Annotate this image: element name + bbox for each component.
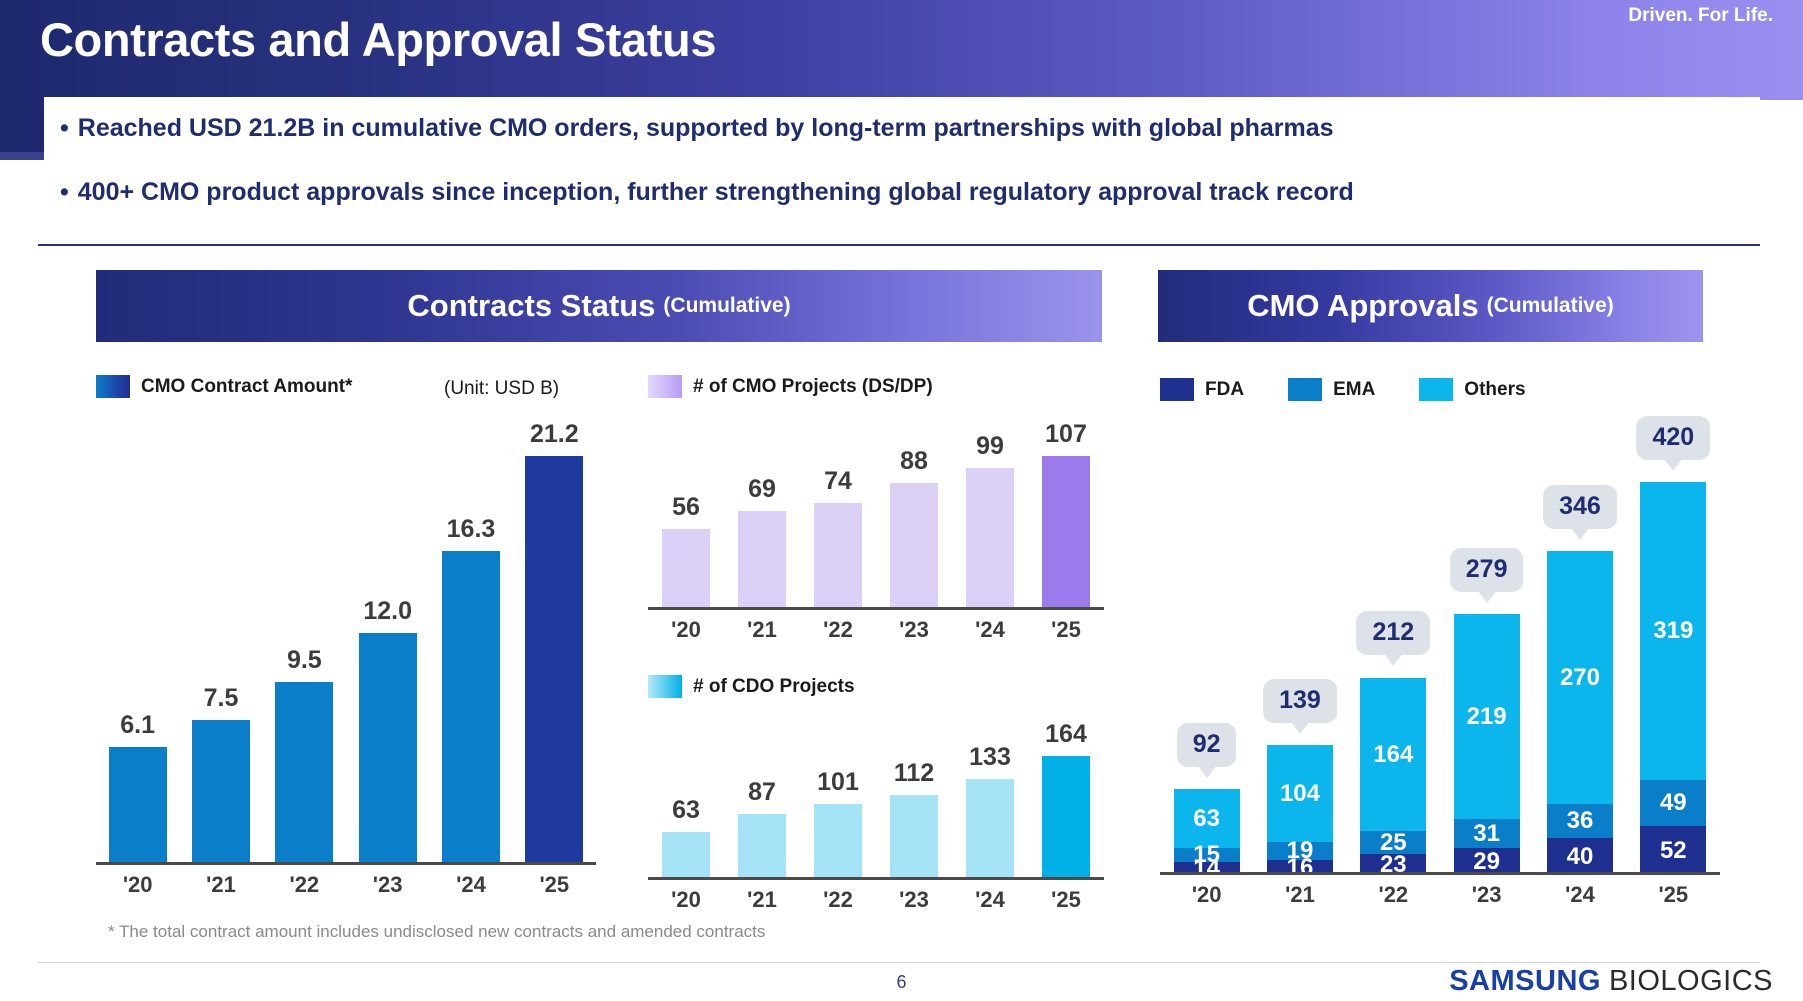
x-tick-label: '24	[1533, 882, 1626, 908]
bar-value-label: 87	[748, 778, 776, 807]
brand-tagline: Driven. For Life.	[1628, 5, 1773, 27]
stack-segment-others: 104	[1267, 745, 1333, 842]
legend-label-fda: FDA	[1205, 379, 1244, 401]
stacked-bar: 2193129279	[1454, 614, 1520, 875]
x-tick-label: '22	[263, 872, 346, 898]
bar-value-label: 164	[1045, 720, 1087, 749]
bar-group: 6.17.59.512.016.321.2	[96, 420, 596, 865]
bar-slot: 164	[1028, 720, 1104, 880]
section-divider	[38, 244, 1760, 246]
bar-slot: 1041916139	[1253, 745, 1346, 875]
unit-label: (Unit: USD B)	[444, 378, 559, 400]
x-tick-label: '22	[800, 617, 876, 643]
bar-group: 6387101112133164	[648, 720, 1104, 880]
stacked-bar: 1041916139	[1267, 745, 1333, 875]
x-tick-label: '21	[1253, 882, 1346, 908]
x-tick-label: '20	[1160, 882, 1253, 908]
stack-segment-value: 40	[1567, 843, 1594, 871]
legend-swatch-ema-icon	[1288, 378, 1322, 401]
bar-group: 5669748899107	[648, 420, 1104, 610]
company-logo: SAMSUNGBIOLOGICS	[1449, 965, 1773, 998]
legend-item-others: Others	[1419, 378, 1525, 401]
stack-segment-value: 49	[1660, 789, 1687, 817]
legend-cmo-projects: # of CMO Projects (DS/DP)	[648, 375, 933, 398]
chart-cmo-projects: 5669748899107 '20'21'22'23'24'25	[648, 410, 1104, 610]
bar-slot: 56	[648, 493, 724, 610]
total-callout: 212	[1356, 611, 1430, 655]
x-axis-labels: '20'21'22'23'24'25	[648, 617, 1104, 643]
header-left-accent	[0, 0, 44, 152]
stack-segment-ema: 36	[1547, 804, 1613, 838]
total-callout: 346	[1543, 485, 1617, 529]
x-axis-line	[648, 607, 1104, 610]
bar-value-label: 74	[824, 467, 852, 496]
bar	[814, 804, 862, 880]
stack-segment-value: 219	[1467, 703, 1507, 731]
stack-segment-value: 319	[1653, 617, 1693, 645]
bar-value-label: 56	[672, 493, 700, 522]
bar	[662, 832, 710, 880]
stack-segment-value: 52	[1660, 837, 1687, 865]
total-callout: 139	[1263, 679, 1337, 723]
bar-value-label: 16.3	[447, 515, 496, 544]
stack-segment-others: 164	[1360, 678, 1426, 831]
x-tick-label: '25	[513, 872, 596, 898]
legend-swatch-cmo-amount-icon	[96, 375, 130, 398]
legend-cdo-projects: # of CDO Projects	[648, 675, 855, 698]
stack-segment-others: 270	[1547, 551, 1613, 804]
x-tick-label: '23	[1440, 882, 1533, 908]
bar	[890, 483, 938, 610]
stacked-bar: 2703640346	[1547, 551, 1613, 875]
x-tick-label: '23	[876, 887, 952, 913]
legend-swatch-cdo-projects-icon	[648, 675, 682, 698]
page-title: Contracts and Approval Status	[40, 12, 716, 67]
legend-swatch-others-icon	[1419, 378, 1453, 401]
bar-slot: 107	[1028, 420, 1104, 610]
x-tick-label: '25	[1028, 887, 1104, 913]
stack-segment-value: 36	[1567, 807, 1594, 835]
legend-label-others: Others	[1464, 379, 1525, 401]
plot-area: 6387101112133164	[648, 710, 1104, 880]
x-tick-label: '24	[952, 887, 1028, 913]
legend-label-cmo-amount: CMO Contract Amount*	[141, 376, 352, 398]
stack-segment-value: 31	[1473, 820, 1500, 848]
stack-segment-value: 270	[1560, 664, 1600, 692]
legend-label-ema: EMA	[1333, 379, 1375, 401]
plot-area: 6.17.59.512.016.321.2	[96, 410, 596, 865]
x-tick-label: '25	[1627, 882, 1720, 908]
bar	[662, 529, 710, 610]
x-tick-label: '20	[96, 872, 179, 898]
cmo-approvals-banner: CMO Approvals (Cumulative)	[1158, 270, 1703, 342]
bar-value-label: 107	[1045, 420, 1087, 449]
legend-label-cmo-projects: # of CMO Projects (DS/DP)	[693, 376, 933, 398]
legend-swatch-fda-icon	[1160, 378, 1194, 401]
bullet-text: Reached USD 21.2B in cumulative CMO orde…	[78, 115, 1334, 143]
total-callout: 420	[1636, 416, 1710, 460]
bar	[109, 747, 167, 865]
bar-value-label: 101	[817, 768, 859, 797]
legend-item-fda: FDA	[1160, 378, 1244, 401]
contracts-status-title: Contracts Status	[407, 288, 655, 324]
stack-segment-fda: 40	[1547, 838, 1613, 875]
footnote: * The total contract amount includes und…	[108, 922, 765, 942]
bar-slot: 1642523212	[1347, 677, 1440, 875]
plot-area: 5669748899107	[648, 410, 1104, 610]
x-tick-label: '23	[876, 617, 952, 643]
x-axis-labels: '20'21'22'23'24'25	[648, 887, 1104, 913]
x-tick-label: '22	[1347, 882, 1440, 908]
bar-value-label: 112	[894, 759, 934, 788]
stack-segment-value: 14	[1193, 855, 1220, 883]
bar	[738, 511, 786, 610]
bullet-item: • 400+ CMO product approvals since incep…	[60, 179, 1740, 207]
bar-value-label: 88	[900, 447, 928, 476]
x-axis-line	[1160, 872, 1720, 875]
bullet-item: • Reached USD 21.2B in cumulative CMO or…	[60, 115, 1740, 143]
bullet-marker-icon: •	[60, 179, 69, 207]
bar-slot: 112	[876, 759, 952, 880]
stack-segment-others: 63	[1174, 789, 1240, 848]
stack-segment-fda: 52	[1640, 826, 1706, 875]
stacked-bar-group: 6315149210419161391642523212219312927927…	[1160, 482, 1720, 875]
bar-slot: 6.1	[96, 711, 179, 865]
bar-slot: 69	[724, 475, 800, 610]
logo-biologics: BIOLOGICS	[1609, 965, 1773, 997]
x-tick-label: '20	[648, 887, 724, 913]
x-axis-line	[648, 877, 1104, 880]
bar	[1042, 456, 1090, 610]
bar-slot: 101	[800, 768, 876, 880]
total-callout: 279	[1450, 548, 1524, 592]
bar-value-label: 7.5	[204, 684, 239, 713]
bar-slot: 63151492	[1160, 789, 1253, 875]
x-tick-label: '22	[800, 887, 876, 913]
bar-value-label: 9.5	[287, 646, 322, 675]
chart-cdo-projects: 6387101112133164 '20'21'22'23'24'25	[648, 710, 1104, 880]
x-tick-label: '24	[429, 872, 512, 898]
x-tick-label: '24	[952, 617, 1028, 643]
stack-segment-ema: 31	[1454, 819, 1520, 848]
bar	[890, 795, 938, 880]
bar	[738, 814, 786, 880]
bar	[525, 456, 583, 865]
summary-bullets: • Reached USD 21.2B in cumulative CMO or…	[60, 115, 1740, 206]
x-axis-line	[96, 862, 596, 865]
bar	[814, 503, 862, 610]
stacked-bar: 1642523212	[1360, 677, 1426, 875]
bar	[275, 682, 333, 865]
header-left-accent-foot	[0, 152, 44, 160]
x-axis-labels: '20'21'22'23'24'25	[1160, 882, 1720, 908]
bar	[442, 551, 500, 865]
bar-slot: 2703640346	[1533, 551, 1626, 875]
total-callout: 92	[1177, 723, 1237, 767]
stack-segment-fda: 29	[1454, 848, 1520, 875]
bar-slot: 2193129279	[1440, 614, 1533, 875]
stack-segment-value: 16	[1287, 854, 1314, 882]
bar-slot: 7.5	[179, 684, 262, 865]
stack-segment-ema: 49	[1640, 780, 1706, 826]
bar-slot: 133	[952, 743, 1028, 880]
bullet-text: 400+ CMO product approvals since incepti…	[78, 179, 1354, 207]
bar-slot: 63	[648, 796, 724, 880]
chart-cmo-approvals: 6315149210419161391642523212219312927927…	[1160, 400, 1720, 875]
bar-slot: 99	[952, 432, 1028, 610]
bar	[966, 779, 1014, 880]
stack-segment-others: 319	[1640, 482, 1706, 780]
x-tick-label: '21	[724, 617, 800, 643]
stack-segment-value: 164	[1373, 741, 1413, 769]
contracts-status-subtitle: (Cumulative)	[663, 294, 790, 318]
x-axis-labels: '20'21'22'23'24'25	[96, 872, 596, 898]
bar-slot: 87	[724, 778, 800, 880]
bar-value-label: 6.1	[120, 711, 155, 740]
plot-area: 6315149210419161391642523212219312927927…	[1160, 400, 1720, 875]
bar-value-label: 99	[976, 432, 1004, 461]
contracts-status-banner: Contracts Status (Cumulative)	[96, 270, 1102, 342]
x-tick-label: '21	[179, 872, 262, 898]
stack-segment-value: 104	[1280, 780, 1320, 808]
bar-slot: 12.0	[346, 597, 429, 865]
bar	[192, 720, 250, 865]
bullet-marker-icon: •	[60, 115, 69, 143]
stack-segment-others: 219	[1454, 614, 1520, 819]
legend-approvals: FDA EMA Others	[1160, 378, 1526, 401]
bar	[966, 468, 1014, 610]
x-tick-label: '23	[346, 872, 429, 898]
stack-segment-value: 63	[1193, 805, 1220, 833]
bar-value-label: 21.2	[530, 420, 579, 449]
bar-slot: 16.3	[429, 515, 512, 865]
bar-slot: 88	[876, 447, 952, 610]
stacked-bar: 63151492	[1174, 789, 1240, 875]
cmo-approvals-subtitle: (Cumulative)	[1487, 294, 1614, 318]
cmo-approvals-title: CMO Approvals	[1247, 288, 1478, 324]
bar-slot: 9.5	[263, 646, 346, 865]
legend-item-ema: EMA	[1288, 378, 1375, 401]
bar	[1042, 756, 1090, 880]
x-tick-label: '25	[1028, 617, 1104, 643]
bar-value-label: 69	[748, 475, 776, 504]
legend-swatch-cmo-projects-icon	[648, 375, 682, 398]
chart-cmo-contract-amount: 6.17.59.512.016.321.2 '20'21'22'23'24'25	[96, 410, 596, 865]
bar	[359, 633, 417, 865]
bar-slot: 3194952420	[1627, 482, 1720, 875]
legend-cmo-contract-amount: CMO Contract Amount*	[96, 375, 352, 398]
bar-slot: 21.2	[513, 420, 596, 865]
stacked-bar: 3194952420	[1640, 482, 1706, 875]
bar-value-label: 133	[969, 743, 1011, 772]
bar-value-label: 63	[672, 796, 700, 825]
bar-value-label: 12.0	[363, 597, 412, 626]
x-tick-label: '21	[724, 887, 800, 913]
footer-divider	[38, 962, 1760, 963]
legend-label-cdo-projects: # of CDO Projects	[693, 676, 855, 698]
bar-slot: 74	[800, 467, 876, 610]
x-tick-label: '20	[648, 617, 724, 643]
logo-samsung: SAMSUNG	[1449, 965, 1601, 997]
